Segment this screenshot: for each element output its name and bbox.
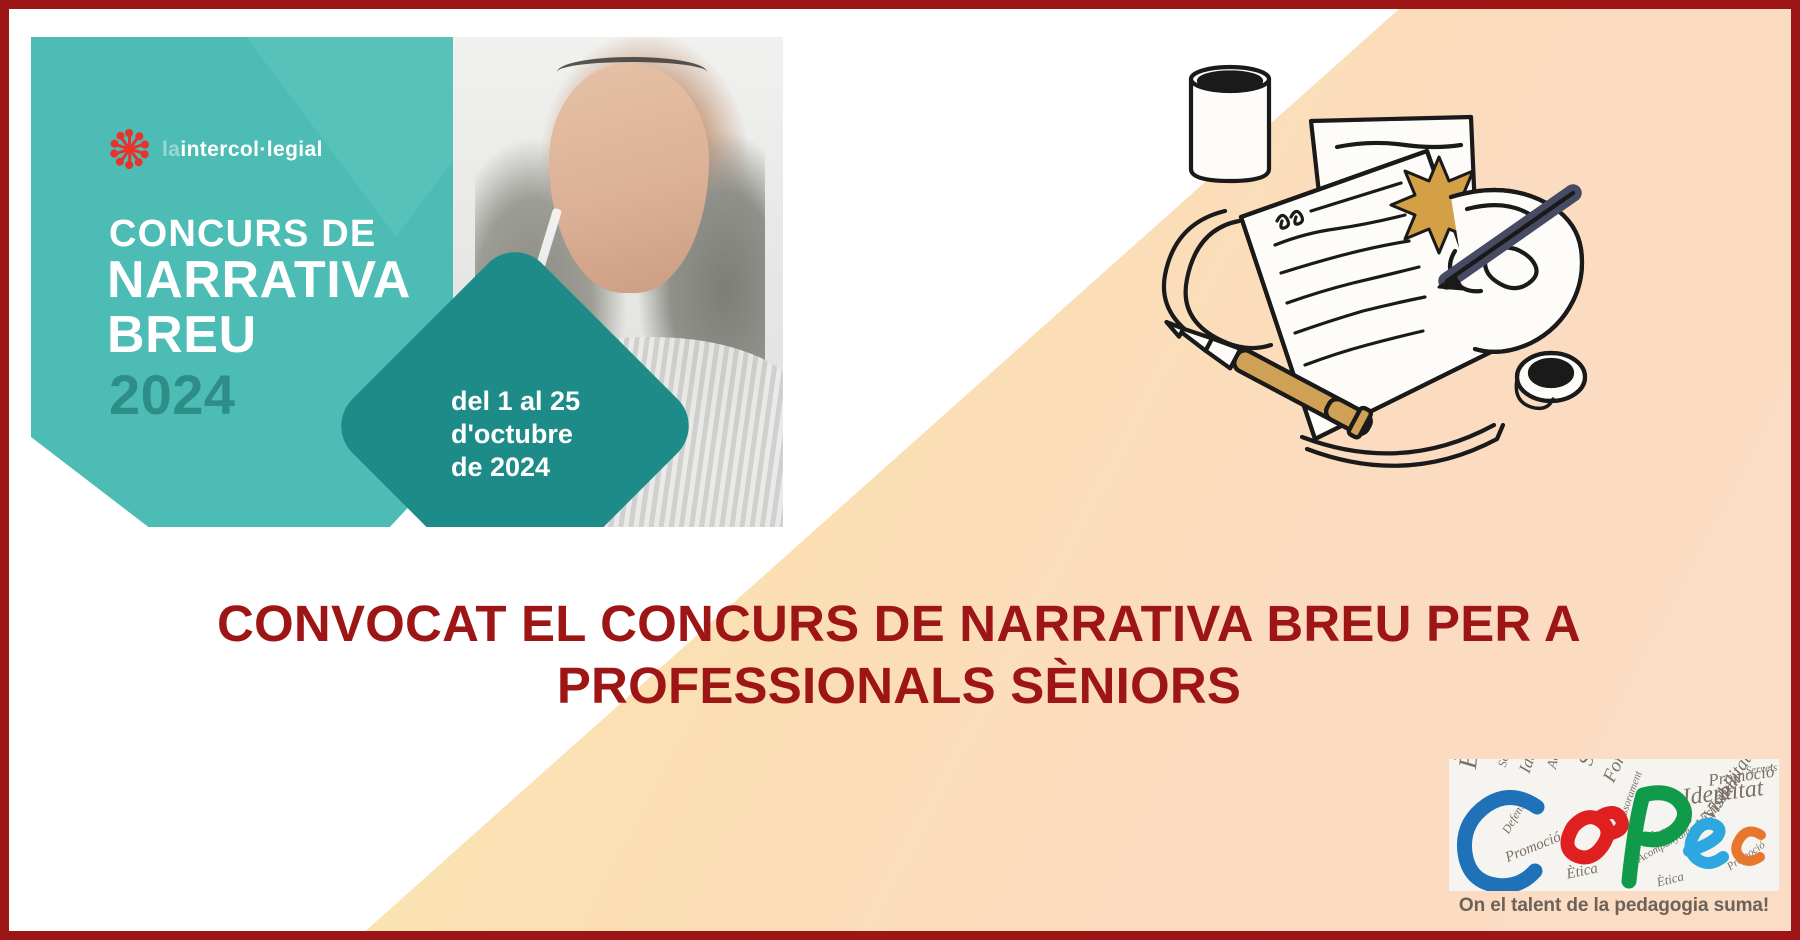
logo-name: intercol·legial	[180, 138, 323, 161]
contest-poster-image: laintercol·legial CONCURS DE NARRATIVA B…	[31, 37, 783, 527]
copec-logo: Ètica Serveis Identitat Acompanyament Pr…	[1449, 759, 1779, 917]
copec-logo-mark: Ètica Serveis Identitat Acompanyament Pr…	[1449, 759, 1779, 891]
poster-title-line1: CONCURS DE	[109, 215, 376, 253]
poster-date-text: del 1 al 25 d'octubre de 2024	[451, 385, 651, 484]
logo-prefix: la	[162, 138, 180, 161]
hand-writing-in-notebook-illustration	[1099, 29, 1639, 499]
copec-letterforms	[1449, 759, 1779, 891]
intercollegial-wordmark: laintercol·legial	[162, 139, 323, 160]
page-title: CONVOCAT EL CONCURS DE NARRATIVA BREU PE…	[99, 593, 1699, 717]
intercollegial-logo: laintercol·legial	[109, 129, 323, 169]
asterisk-burst-icon	[109, 129, 149, 169]
poster-page: laintercol·legial CONCURS DE NARRATIVA B…	[0, 0, 1800, 940]
copec-tagline: On el talent de la pedagogia suma!	[1449, 895, 1779, 917]
poster-title-line2: NARRATIVA BREU	[107, 253, 411, 363]
photo-glasses	[557, 57, 707, 87]
poster-year: 2024	[109, 367, 236, 423]
